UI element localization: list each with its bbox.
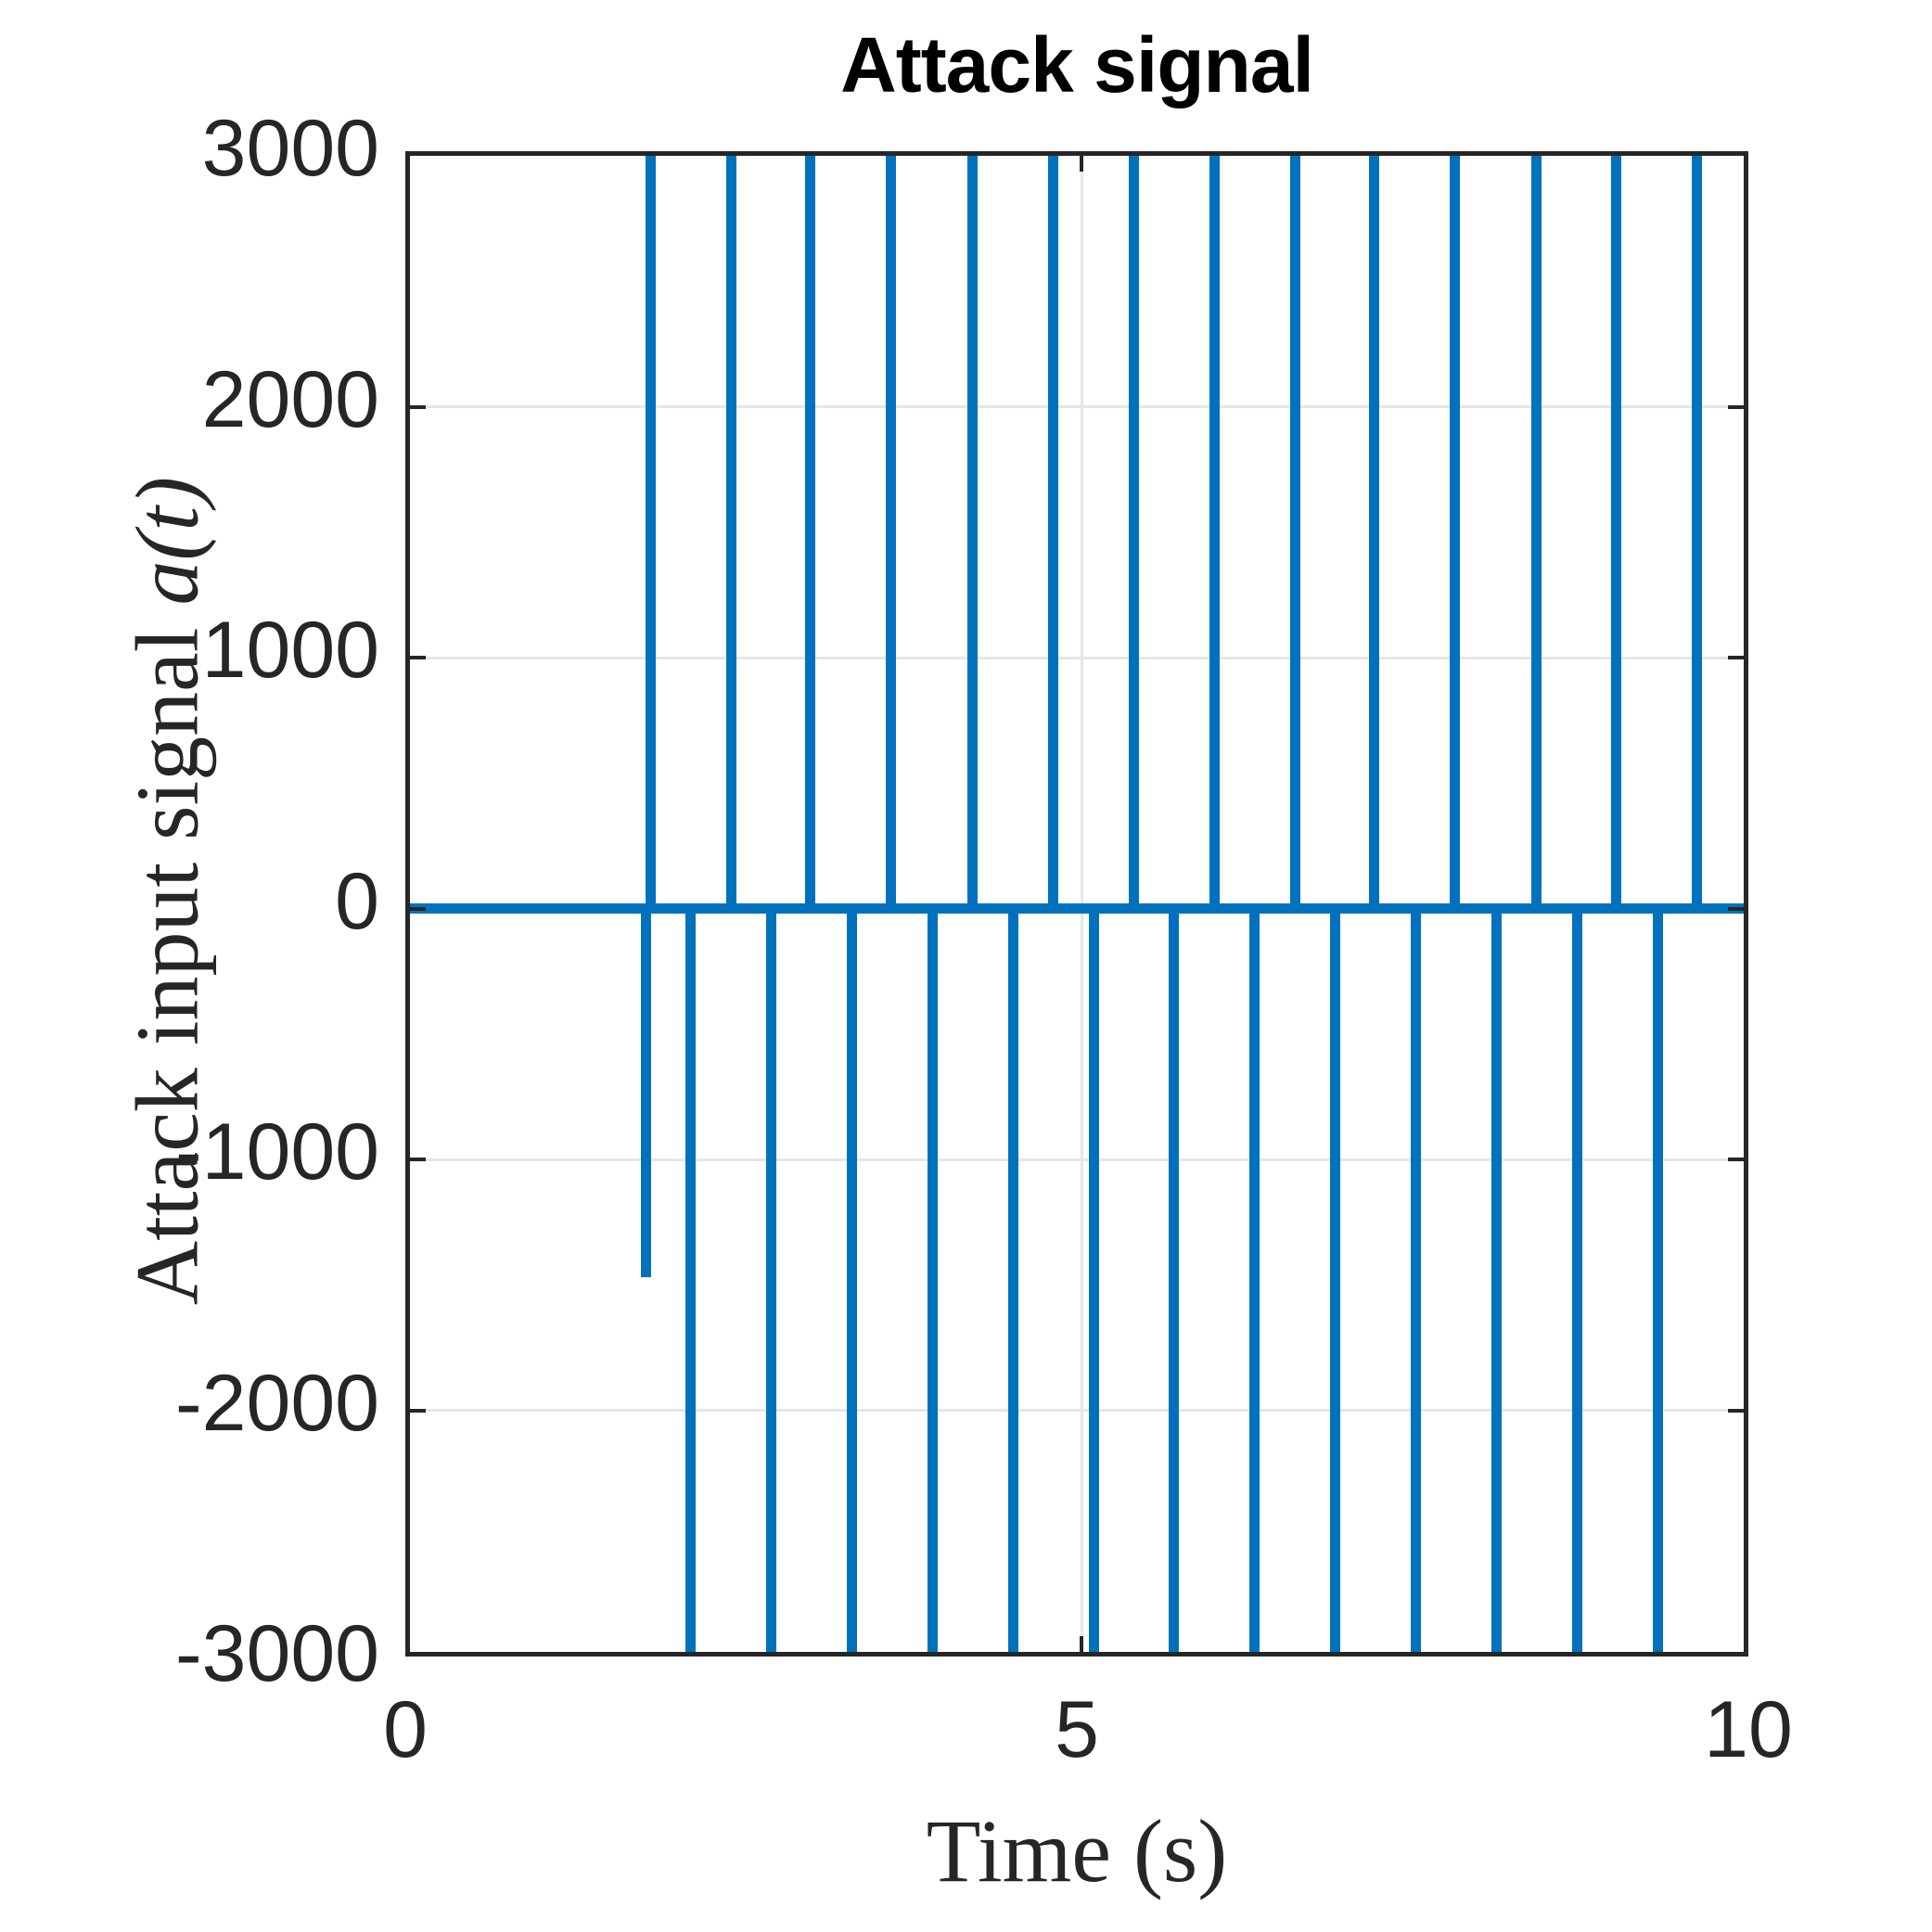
negative-impulse: [641, 909, 651, 1278]
y-tick-label: 3000: [202, 109, 379, 188]
y-tick-label: 2000: [202, 360, 379, 440]
chart-figure: Attack signal Attack input signal a(t) T…: [0, 0, 1932, 1932]
x-tick-label: 0: [266, 1690, 544, 1770]
plot-area: [405, 151, 1748, 1657]
positive-impulse: [1369, 156, 1379, 909]
positive-impulse: [1290, 156, 1300, 909]
negative-impulse: [1330, 909, 1340, 1653]
y-tick-mark: [410, 405, 426, 409]
negative-impulse: [685, 909, 696, 1653]
y-tick-label: -2000: [175, 1363, 379, 1443]
negative-impulse: [1008, 909, 1018, 1653]
positive-impulse: [1450, 156, 1460, 909]
positive-impulse: [805, 156, 815, 909]
negative-impulse: [847, 909, 857, 1653]
y-tick-mark: [410, 907, 426, 911]
series-baseline: [410, 903, 1744, 914]
negative-impulse: [1491, 909, 1502, 1653]
series-layer: [410, 156, 1744, 1652]
positive-impulse: [1048, 156, 1058, 909]
negative-impulse: [928, 909, 938, 1653]
y-tick-label: -3000: [175, 1614, 379, 1694]
positive-impulse: [1611, 156, 1621, 909]
negative-impulse: [766, 909, 776, 1653]
x-tick-mark: [1080, 156, 1083, 172]
y-tick-mark: [1728, 656, 1744, 659]
positive-impulse: [646, 156, 656, 909]
negative-impulse: [1249, 909, 1260, 1653]
positive-impulse: [726, 156, 736, 909]
negative-impulse: [1572, 909, 1582, 1653]
x-tick-mark: [1080, 1636, 1083, 1652]
chart-title: Attack signal: [405, 20, 1748, 110]
y-tick-mark: [1728, 1158, 1744, 1161]
y-tick-label: 1000: [202, 610, 379, 690]
negative-impulse: [1653, 909, 1663, 1653]
x-tick-label: 10: [1609, 1690, 1887, 1770]
y-tick-mark: [1728, 405, 1744, 409]
negative-impulse: [1411, 909, 1421, 1653]
positive-impulse: [1209, 156, 1220, 909]
positive-impulse: [1692, 156, 1702, 909]
y-axis-title-math: a(t): [118, 477, 217, 606]
y-tick-mark: [410, 1158, 426, 1161]
y-tick-mark: [1728, 1409, 1744, 1413]
y-tick-mark: [1728, 907, 1744, 911]
negative-impulse: [1089, 909, 1099, 1653]
positive-impulse: [1531, 156, 1542, 909]
x-axis-title: Time (s): [405, 1799, 1748, 1902]
y-tick-mark: [410, 1409, 426, 1413]
negative-impulse: [1169, 909, 1179, 1653]
y-axis-title-text: Attack input signal: [118, 606, 217, 1306]
y-tick-label: -1000: [175, 1112, 379, 1192]
positive-impulse: [967, 156, 978, 909]
y-tick-mark: [410, 656, 426, 659]
plot-inner: [410, 156, 1744, 1652]
positive-impulse: [886, 156, 896, 909]
positive-impulse: [1129, 156, 1139, 909]
x-tick-label: 5: [938, 1690, 1216, 1770]
y-tick-label: 0: [335, 862, 379, 941]
